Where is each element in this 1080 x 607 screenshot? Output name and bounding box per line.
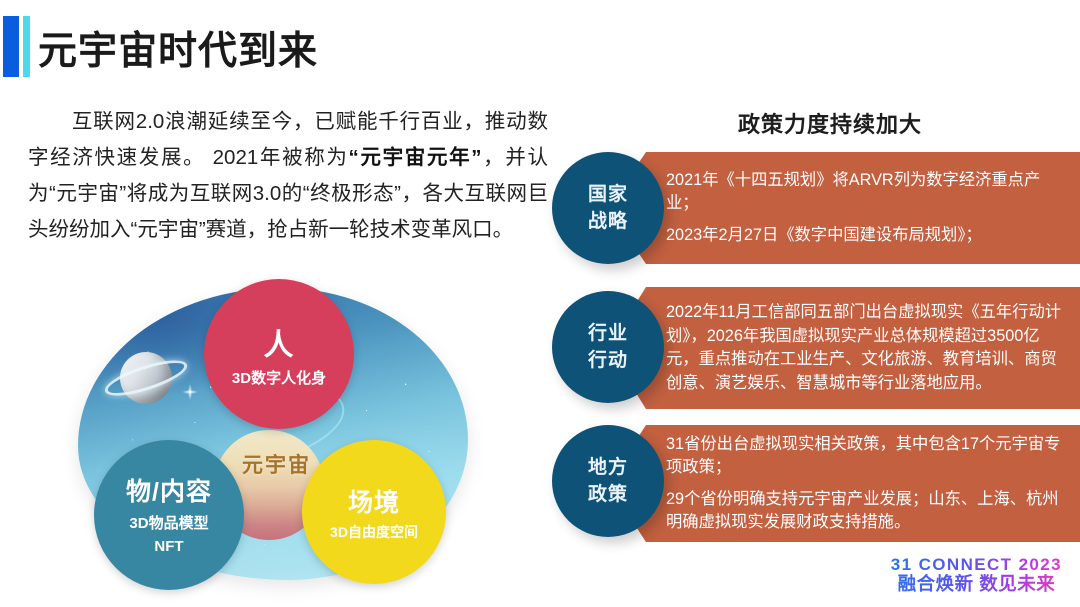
policy-badge-industry-line1: 行业: [588, 320, 628, 347]
policy-badge-local[interactable]: 地方 政策: [552, 425, 664, 537]
title-accent-bar-cyan: [23, 16, 30, 77]
policy-panel-national: 2021年《十四五规划》将ARVR列为数字经济重点产业； 2023年2月27日《…: [608, 152, 1080, 264]
policy-badge-industry-line2: 行动: [588, 347, 628, 374]
title-accent-bar-blue: [3, 16, 19, 77]
policy-badge-local-line2: 政策: [588, 481, 628, 508]
policy-item: 2021年《十四五规划》将ARVR列为数字经济重点产业；: [666, 169, 1066, 215]
policy-section-heading: 政策力度持续加大: [620, 107, 1040, 139]
venn-center-label: 元宇宙: [242, 449, 311, 479]
venn-circle-thing-subtitle-line2: NFT: [154, 535, 183, 558]
venn-circle-scene[interactable]: 场境 3D自由度空间: [302, 440, 446, 584]
venn-circle-scene-subtitle: 3D自由度空间: [326, 522, 422, 542]
policy-badge-national-line1: 国家: [588, 181, 628, 208]
venn-circle-thing-subtitle-line1: 3D物品模型: [129, 512, 208, 535]
venn-circle-scene-title: 场境: [348, 483, 400, 519]
venn-circle-person-subtitle: 3D数字人化身: [227, 368, 331, 389]
event-logo-chinese: 融合焕新 数见未来: [891, 574, 1062, 595]
slide-root: 元宇宙时代到来 互联网2.0浪潮延续至今，已赋能千行百业，推动数字经济快速发展。…: [0, 0, 1080, 607]
page-title: 元宇宙时代到来: [38, 20, 318, 76]
venn-circle-thing-title: 物/内容: [126, 472, 212, 508]
saturn-planet-icon: [106, 344, 184, 422]
event-logo: 31 CONNECT 2023 融合焕新 数见未来: [891, 555, 1062, 595]
policy-item: 2022年11月工信部同五部门出台虚拟现实《五年行动计划》，2026年我国虚拟现…: [666, 301, 1066, 395]
policy-item: 31省份出台虚拟现实相关政策，其中包含17个元宇宙专项政策；: [666, 433, 1066, 479]
policy-panel-industry: 2022年11月工信部同五部门出台虚拟现实《五年行动计划》，2026年我国虚拟现…: [608, 287, 1080, 409]
policy-badge-national[interactable]: 国家 战略: [552, 152, 664, 264]
venn-circle-person-title: 人: [264, 320, 295, 364]
metaverse-venn-diagram: 元宇宙 人 3D数字人化身 物/内容 3D物品模型 NFT 场境 3D自由度空间: [78, 288, 468, 580]
intro-paragraph-highlight: “元宇宙元年”: [349, 146, 482, 169]
policy-badge-industry[interactable]: 行业 行动: [552, 291, 664, 403]
policy-item: 2023年2月27日《数字中国建设布局规划》；: [666, 224, 1066, 247]
policy-badge-national-line2: 战略: [588, 208, 628, 235]
event-logo-english: 31 CONNECT 2023: [891, 555, 1062, 574]
venn-circle-person[interactable]: 人 3D数字人化身: [204, 279, 354, 429]
intro-paragraph: 互联网2.0浪潮延续至今，已赋能千行百业，推动数字经济快速发展。 2021年被称…: [28, 104, 548, 248]
policy-panel-local: 31省份出台虚拟现实相关政策，其中包含17个元宇宙专项政策； 29个省份明确支持…: [608, 425, 1080, 542]
venn-circle-thing[interactable]: 物/内容 3D物品模型 NFT: [94, 440, 244, 590]
policy-item: 29个省份明确支持元宇宙产业发展；山东、上海、杭州明确虚拟现实发展财政支持措施。: [666, 488, 1066, 534]
policy-badge-local-line1: 地方: [588, 454, 628, 481]
